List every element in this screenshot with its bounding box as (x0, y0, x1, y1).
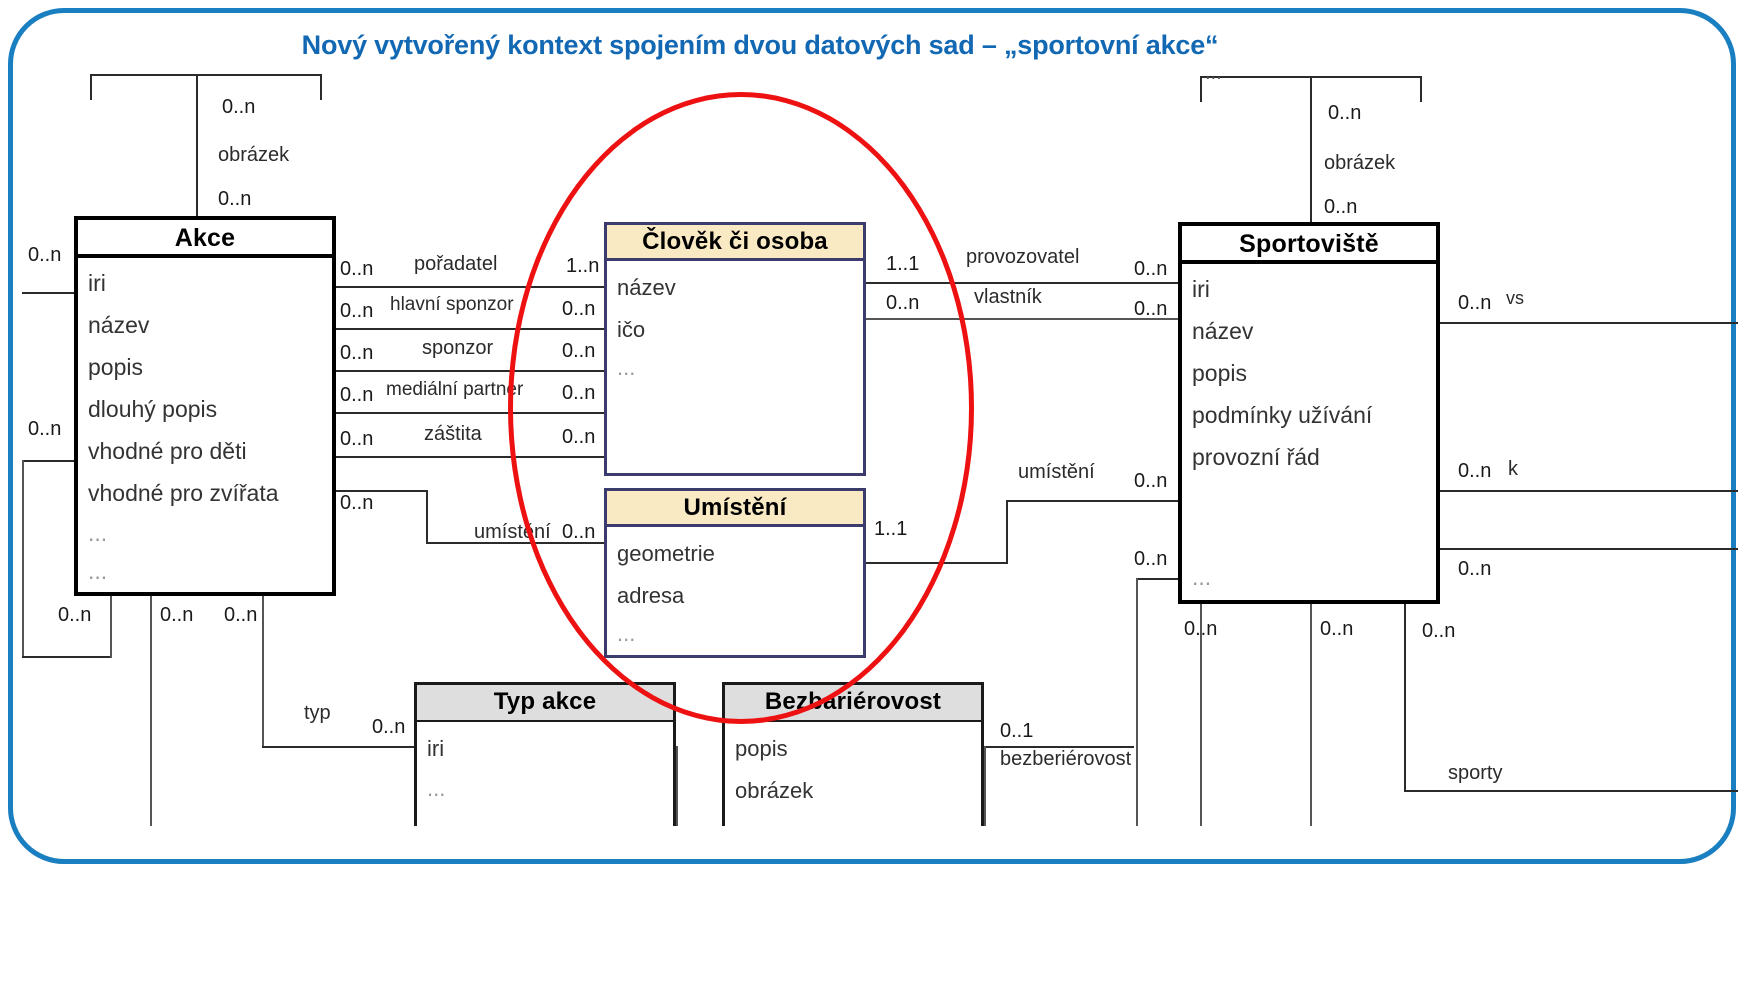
role-ellipsis-top-right: ... (1205, 62, 1222, 85)
multiplicity-zastita-right: 0..n (562, 426, 595, 449)
attribute-row: dlouhý popis (88, 396, 217, 423)
connector-akce-obrazek-left (90, 74, 92, 100)
connector-sporty (1404, 790, 1738, 792)
connector-vlastnik (866, 318, 1178, 320)
connector-sportoviste-left-lower (1136, 578, 1180, 580)
connector-sportoviste-right-2 (1438, 490, 1738, 492)
attribute-row: ičo (617, 317, 645, 343)
role-bezberierovost: bezberiérovost (1000, 748, 1131, 771)
multiplicity-akce-bottom-2: 0..n (160, 604, 193, 627)
multiplicity-akce-bottom-3: 0..n (224, 604, 257, 627)
connector-poradatel (336, 286, 604, 288)
multiplicity-umisteni-akce-left: 0..n (340, 492, 373, 515)
connector-zastita (336, 456, 604, 458)
multiplicity-umisteni-akce-right: 0..n (562, 521, 595, 544)
multiplicity-sportoviste-obrazek-bottom: 0..n (1324, 196, 1357, 219)
connector-hlavni-sponzor (336, 328, 604, 330)
connector-akce-umisteni-vert (426, 490, 428, 542)
entity-typ-akce-title: Typ akce (417, 685, 673, 722)
multiplicity-sponzor-right: 0..n (562, 340, 595, 363)
connector-akce-obrazek-top (90, 74, 322, 76)
attribute-row: ... (88, 558, 107, 585)
attribute-row: adresa (617, 583, 684, 609)
connector-sporty-vert (1404, 604, 1406, 792)
role-umisteni-sportoviste: umístění (1018, 461, 1095, 484)
attribute-row: iri (1192, 276, 1210, 303)
attribute-row: provozní řád (1192, 444, 1320, 471)
multiplicity-sportoviste-bottom-1: 0..n (1184, 618, 1217, 641)
entity-sportoviste[interactable]: Sportoviště iri název popis podmínky uží… (1178, 222, 1440, 604)
multiplicity-sportoviste-obrazek-top: 0..n (1328, 102, 1361, 125)
connector-sportoviste-obrazek-stem (1310, 76, 1312, 224)
attribute-row: ... (617, 621, 635, 647)
multiplicity-akce-obrazek-bottom: 0..n (218, 188, 251, 211)
role-k-truncated: k (1508, 458, 1518, 481)
entity-umisteni-title: Umístění (607, 491, 863, 527)
attribute-row: název (88, 312, 149, 339)
role-vs-truncated: vs (1506, 288, 1524, 309)
role-zastita: záštita (424, 423, 482, 446)
multiplicity-akce-left-top: 0..n (28, 244, 61, 267)
multiplicity-bezberierovost: 0..1 (1000, 720, 1033, 743)
role-sportoviste-obrazek: obrázek (1324, 152, 1395, 175)
multiplicity-sportoviste-right-3: 0..n (1458, 558, 1491, 581)
connector-umisteni-sportoviste-b (1006, 500, 1180, 502)
connector-sportoviste-bottom-2 (1310, 604, 1312, 826)
entity-akce-title: Akce (78, 220, 332, 258)
connector-provozovatel (866, 282, 1178, 284)
connector-akce-obrazek-right (320, 74, 322, 100)
entity-akce[interactable]: Akce iri název popis dlouhý popis vhodné… (74, 216, 336, 596)
connector-medialni-partner (336, 412, 604, 414)
connector-typ-horizontal (262, 746, 414, 748)
multiplicity-vlastnik-right: 0..n (1134, 298, 1167, 321)
connector-sponzor (336, 370, 604, 372)
attribute-row: ... (1192, 564, 1211, 591)
entity-bezbarierovost[interactable]: Bezbariérovost popis obrázek (722, 682, 984, 826)
attribute-row: název (1192, 318, 1253, 345)
attribute-row: iri (88, 270, 106, 297)
role-sponzor: sponzor (422, 337, 493, 360)
multiplicity-sportoviste-left-bottom: 0..n (1134, 548, 1167, 571)
connector-typ-akce-stem (676, 746, 678, 826)
connector-sportoviste-obrazek-left (1200, 76, 1202, 102)
entity-bezbarierovost-attributes: popis obrázek (725, 722, 981, 826)
attribute-row: iri (427, 736, 444, 762)
multiplicity-akce-bottom-1: 0..n (58, 604, 91, 627)
connector-sportoviste-right-1 (1438, 322, 1738, 324)
multiplicity-medialni-partner-right: 0..n (562, 382, 595, 405)
multiplicity-umisteni-sportoviste-right: 0..n (1134, 470, 1167, 493)
page-title: Nový vytvořený kontext spojením dvou dat… (0, 30, 1520, 61)
attribute-row: ... (427, 776, 445, 802)
attribute-row: popis (735, 736, 788, 762)
connector-akce-bottom-3 (262, 596, 264, 748)
entity-akce-attributes: iri název popis dlouhý popis vhodné pro … (78, 258, 332, 596)
connector-akce-left-bottom (22, 656, 112, 658)
multiplicity-provozovatel-right: 0..n (1134, 258, 1167, 281)
multiplicity-hlavni-sponzor-right: 0..n (562, 298, 595, 321)
attribute-row: vhodné pro děti (88, 438, 247, 465)
multiplicity-umisteni-sportoviste-left: 1..1 (874, 518, 907, 541)
role-akce-obrazek: obrázek (218, 144, 289, 167)
role-umisteni-akce: umístění (474, 521, 551, 544)
attribute-row: název (617, 275, 676, 301)
entity-clovek-ci-osoba[interactable]: Člověk či osoba název ičo ... (604, 222, 866, 476)
role-medialni-partner: mediální partner (386, 379, 523, 401)
connector-sportoviste-left-lower-vert (1136, 578, 1138, 826)
multiplicity-sportoviste-bottom-3: 0..n (1422, 620, 1455, 643)
entity-sportoviste-title: Sportoviště (1182, 226, 1436, 264)
multiplicity-zastita-left: 0..n (340, 428, 373, 451)
role-vlastnik: vlastník (974, 286, 1042, 309)
attribute-row: podmínky užívání (1192, 402, 1372, 429)
connector-umisteni-sportoviste-vert (1006, 500, 1008, 564)
multiplicity-akce-obrazek-top: 0..n (222, 96, 255, 119)
attribute-row: popis (88, 354, 143, 381)
entity-clovek-attributes: název ičo ... (607, 261, 863, 473)
attribute-row: popis (1192, 360, 1247, 387)
connector-akce-left-mid (22, 460, 80, 462)
multiplicity-medialni-partner-left: 0..n (340, 384, 373, 407)
attribute-row: obrázek (735, 778, 813, 804)
entity-clovek-title: Člověk či osoba (607, 225, 863, 261)
role-sporty: sporty (1448, 762, 1502, 785)
attribute-row: geometrie (617, 541, 715, 567)
entity-sportoviste-attributes: iri název popis podmínky užívání provozn… (1182, 264, 1436, 604)
connector-akce-left-vert (22, 460, 24, 658)
role-provozovatel: provozovatel (966, 246, 1079, 269)
connector-akce-obrazek-stem (196, 74, 198, 218)
multiplicity-vlastnik-left: 0..n (886, 292, 919, 315)
entity-bezbarierovost-title: Bezbariérovost (725, 685, 981, 722)
multiplicity-typ: 0..n (372, 716, 405, 739)
connector-sportoviste-obrazek-right (1420, 76, 1422, 102)
diagram-canvas: Nový vytvořený kontext spojením dvou dat… (0, 0, 1752, 994)
role-typ: typ (304, 702, 331, 725)
multiplicity-sportoviste-right-1: 0..n (1458, 292, 1491, 315)
connector-akce-left-top (22, 292, 80, 294)
multiplicity-sportoviste-right-2: 0..n (1458, 460, 1491, 483)
multiplicity-hlavni-sponzor-left: 0..n (340, 300, 373, 323)
connector-akce-bottom-1 (110, 596, 112, 658)
entity-typ-akce[interactable]: Typ akce iri ... (414, 682, 676, 826)
connector-sportoviste-right-3 (1438, 548, 1738, 550)
entity-umisteni[interactable]: Umístění geometrie adresa ... (604, 488, 866, 658)
multiplicity-sportoviste-bottom-2: 0..n (1320, 618, 1353, 641)
attribute-row: ... (88, 520, 107, 547)
multiplicity-akce-left-mid: 0..n (28, 418, 61, 441)
multiplicity-sponzor-left: 0..n (340, 342, 373, 365)
attribute-row: vhodné pro zvířata (88, 480, 279, 507)
entity-umisteni-attributes: geometrie adresa ... (607, 527, 863, 655)
multiplicity-provozovatel-left: 1..1 (886, 253, 919, 276)
connector-bezbarierovost-stem (984, 746, 986, 826)
attribute-row: ... (617, 355, 635, 381)
role-poradatel: pořadatel (414, 253, 497, 276)
connector-umisteni-sportoviste-a (866, 562, 1008, 564)
role-hlavni-sponzor: hlavní sponzor (390, 294, 514, 316)
multiplicity-poradatel-right: 1..n (566, 255, 599, 278)
multiplicity-poradatel-left: 0..n (340, 258, 373, 281)
entity-typ-akce-attributes: iri ... (417, 722, 673, 826)
connector-akce-bottom-2 (150, 596, 152, 826)
